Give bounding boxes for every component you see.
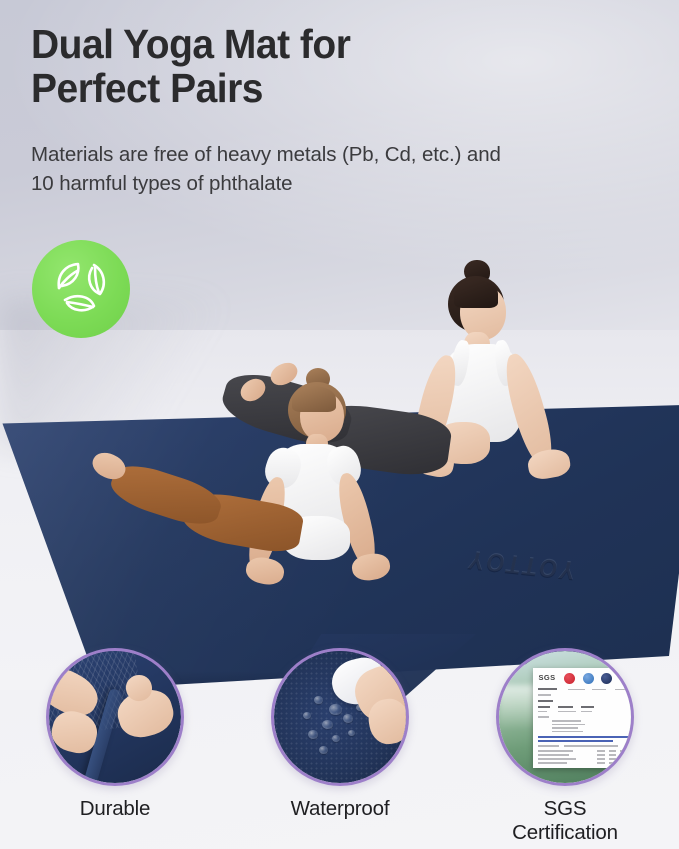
page-subtitle: Materials are free of heavy metals (Pb, … [31,140,649,198]
badge-red-icon [564,673,575,684]
product-marketing-image: Dual Yoga Mat for Perfect Pairs Material… [0,0,679,849]
girl-figure [196,368,456,608]
eco-leaves-icon [32,240,130,338]
badge-blue-icon [583,673,594,684]
feature-label: SGS Certification [494,797,636,845]
page-title: Dual Yoga Mat for Perfect Pairs [31,22,620,111]
sgs-thumbnail[interactable]: SGS [496,648,634,786]
sgs-certificate-document: SGS [533,668,631,768]
headline-line-2: Perfect Pairs [31,66,620,110]
subheadline-line-2: 10 harmful types of phthalate [31,169,649,198]
headline-line-1: Dual Yoga Mat for [31,22,620,66]
waterproof-thumbnail[interactable] [271,648,409,786]
feature-row: Durable [0,648,679,849]
feature-durable[interactable]: Durable [44,648,186,821]
feature-label: Waterproof [269,797,411,821]
feature-label: Durable [44,797,186,821]
sgs-logo: SGS [538,673,555,682]
feature-sgs-certification[interactable]: SGS [494,648,636,845]
subheadline-line-1: Materials are free of heavy metals (Pb, … [31,140,649,169]
feature-waterproof[interactable]: Waterproof [269,648,411,821]
badge-navy-icon [601,673,612,684]
durable-thumbnail[interactable] [46,648,184,786]
